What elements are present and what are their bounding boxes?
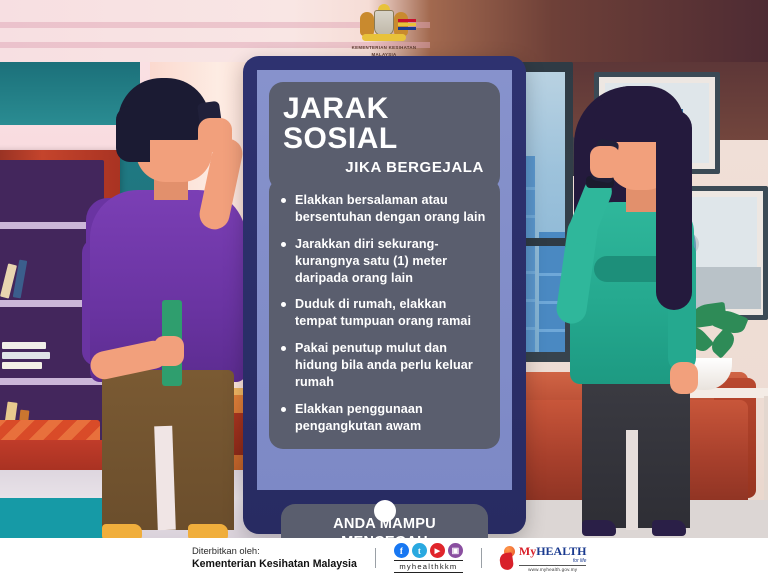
list-item: Elakkan bersalaman atau bersentuhan deng… bbox=[279, 192, 486, 226]
instagram-icon[interactable]: ▣ bbox=[448, 543, 463, 558]
published-by-label: Diterbitkan oleh: bbox=[192, 545, 357, 557]
myhealth-figure-icon bbox=[500, 546, 516, 570]
facebook-icon[interactable]: f bbox=[394, 543, 409, 558]
guidelines-list: Elakkan bersalaman atau bersentuhan deng… bbox=[279, 192, 486, 435]
twitter-icon[interactable]: t bbox=[412, 543, 427, 558]
phone-device-card: JARAK SOSIAL JIKA BERGEJALA Elakkan bers… bbox=[243, 56, 526, 534]
myhealth-word-health: HEALTH bbox=[536, 544, 586, 558]
myhealth-word-my: My bbox=[519, 544, 536, 558]
publisher-block: Diterbitkan oleh: Kementerian Kesihatan … bbox=[192, 545, 357, 572]
myhealth-tagline: for life bbox=[519, 558, 587, 564]
footer-bar: Diterbitkan oleh: Kementerian Kesihatan … bbox=[0, 538, 768, 578]
man-on-phone-illustration bbox=[88, 78, 248, 540]
social-handle: myhealthkkm bbox=[394, 560, 463, 573]
malaysia-coat-of-arms-icon bbox=[352, 4, 416, 44]
footer-divider-2 bbox=[481, 548, 482, 568]
social-block: f t ▶ ▣ myhealthkkm bbox=[394, 543, 463, 573]
myhealth-url: www.myhealth.gov.my bbox=[519, 565, 587, 572]
youtube-icon[interactable]: ▶ bbox=[430, 543, 445, 558]
list-item: Jarakkan diri sekurang-kurangnya satu (1… bbox=[279, 236, 486, 287]
myhealth-logo[interactable]: MyHEALTH for life www.myhealth.gov.my bbox=[500, 545, 587, 572]
page-title: JARAK SOSIAL bbox=[283, 94, 486, 154]
list-item: Duduk di rumah, elakkan tempat tumpuan o… bbox=[279, 296, 486, 330]
guidelines-bubble: Elakkan bersalaman atau bersentuhan deng… bbox=[269, 178, 500, 449]
list-item: Pakai penutup mulut dan hidung bila anda… bbox=[279, 340, 486, 391]
emblem-line-1: KEMENTERIAN KESIHATAN bbox=[334, 45, 434, 51]
footer-divider-1 bbox=[375, 548, 376, 568]
title-bubble-tail bbox=[301, 156, 315, 178]
list-item: Elakkan penggunaan pengangkutan awam bbox=[279, 401, 486, 435]
woman-on-phone-illustration bbox=[560, 80, 710, 540]
ministry-emblem: KEMENTERIAN KESIHATAN MALAYSIA bbox=[334, 4, 434, 58]
phone-screen: JARAK SOSIAL JIKA BERGEJALA Elakkan bers… bbox=[257, 70, 512, 490]
poster-canvas: KEMENTERIAN KESIHATAN MALAYSIA JARAK SOS… bbox=[0, 0, 768, 578]
publisher-name: Kementerian Kesihatan Malaysia bbox=[192, 558, 357, 571]
home-button[interactable] bbox=[374, 500, 396, 522]
